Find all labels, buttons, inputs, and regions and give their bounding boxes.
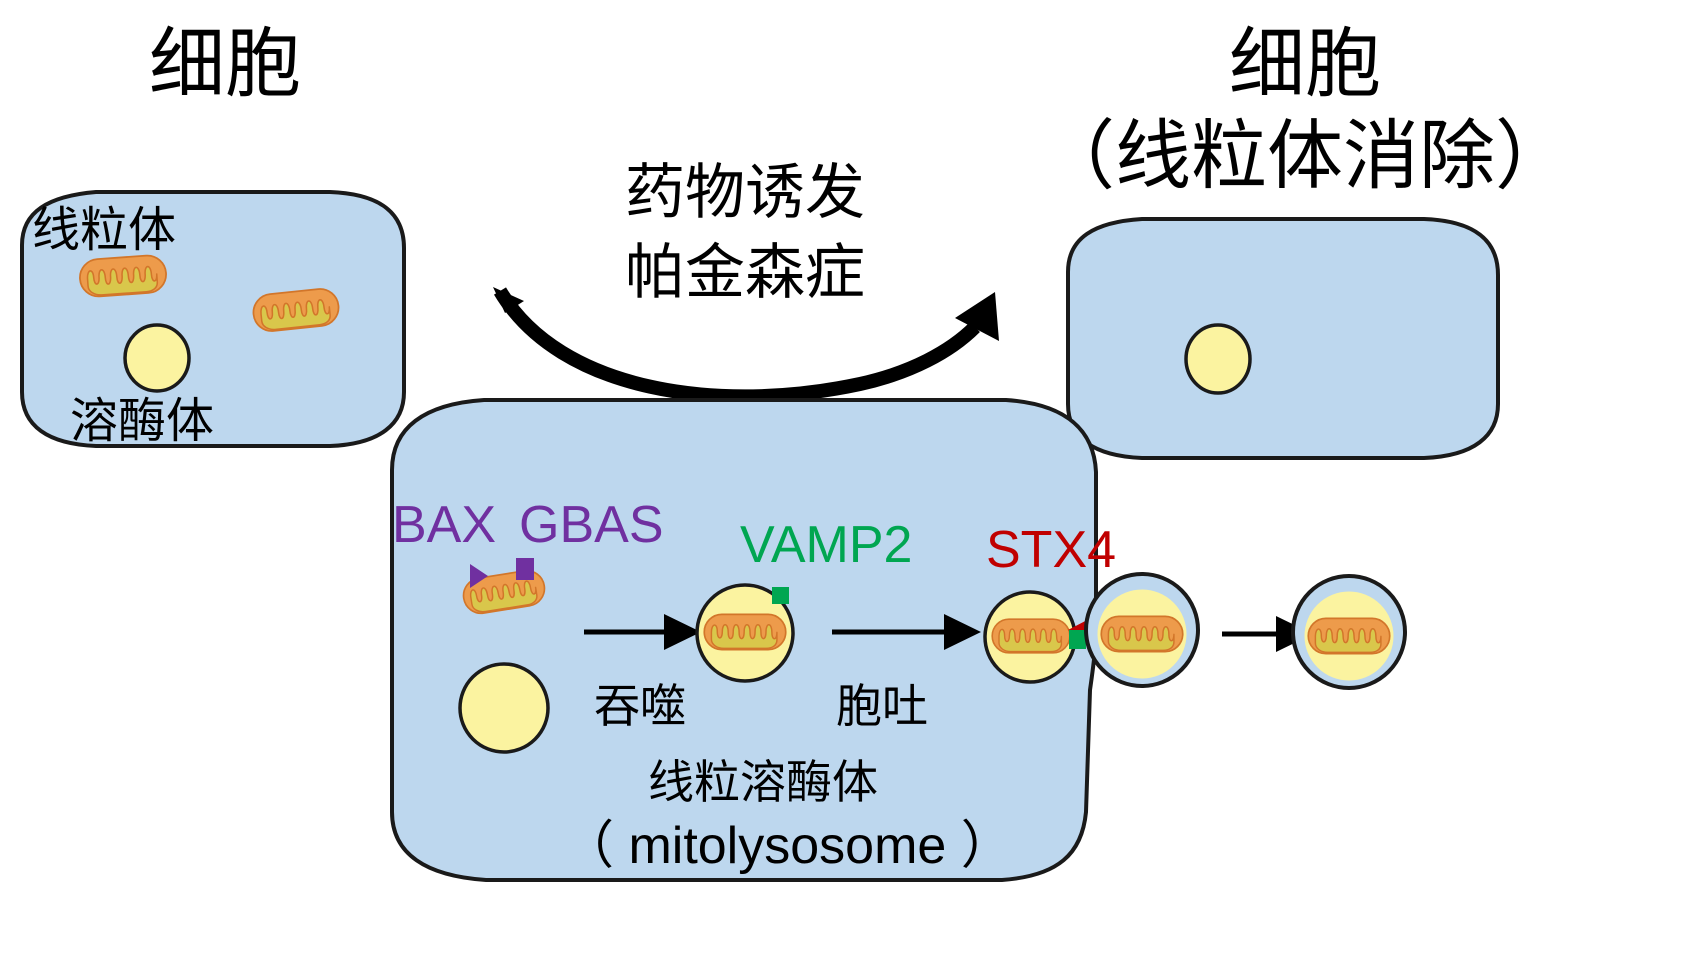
main-cell — [392, 400, 1096, 880]
protein-label-gbas: GBAS — [519, 497, 664, 553]
vesicle-2-mitochondrion — [1308, 618, 1389, 653]
released-vesicle-2 — [1293, 576, 1405, 688]
left-lysosome-label: 溶酶体 — [70, 396, 214, 448]
protein-label-stx4: STX4 — [986, 522, 1116, 578]
released-vesicle-1 — [1086, 574, 1198, 686]
mitolysosome-caption-en: （ mitolysosome ） — [562, 818, 1013, 874]
right-cell-title-line2: （线粒体消除） — [975, 116, 1635, 198]
left-mitochondria-label: 线粒体 — [32, 205, 176, 257]
right-cell-title-line1: 细胞 — [1020, 24, 1590, 106]
docked-mitochondrion — [992, 619, 1070, 653]
mitolysosome — [697, 585, 793, 681]
right-cell-membrane — [1068, 219, 1498, 458]
diagram-canvas: 细胞 线粒体 溶酶体 药物诱发 帕金森症 细胞 （线粒体消除） BAX GBAS… — [0, 0, 1700, 980]
mitolysosome-caption-cn: 线粒溶酶体 — [648, 758, 878, 808]
right-lysosome — [1186, 325, 1250, 393]
left-cell-title: 细胞 — [40, 24, 410, 106]
mitolysosome-mitochondrion — [704, 614, 785, 649]
left-lysosome — [125, 325, 189, 391]
vesicle-1-mitochondrion — [1101, 616, 1182, 651]
step-label-exocytosis: 胞吐 — [836, 682, 928, 732]
vamp2-square-marker — [772, 587, 789, 604]
step-label-phagocytosis: 吞噬 — [594, 682, 686, 732]
transition-label-line2: 帕金森症 — [570, 238, 920, 307]
protein-label-vamp2: VAMP2 — [740, 517, 912, 573]
protein-label-bax: BAX — [392, 497, 496, 553]
right-cell — [1068, 219, 1498, 458]
gbas-square-marker — [516, 558, 534, 580]
transition-label-line1: 药物诱发 — [570, 158, 920, 227]
left-mitochondrion-1 — [79, 254, 168, 297]
main-cell-lysosome — [460, 664, 548, 752]
fusion-vamp2-marker — [1069, 630, 1086, 649]
